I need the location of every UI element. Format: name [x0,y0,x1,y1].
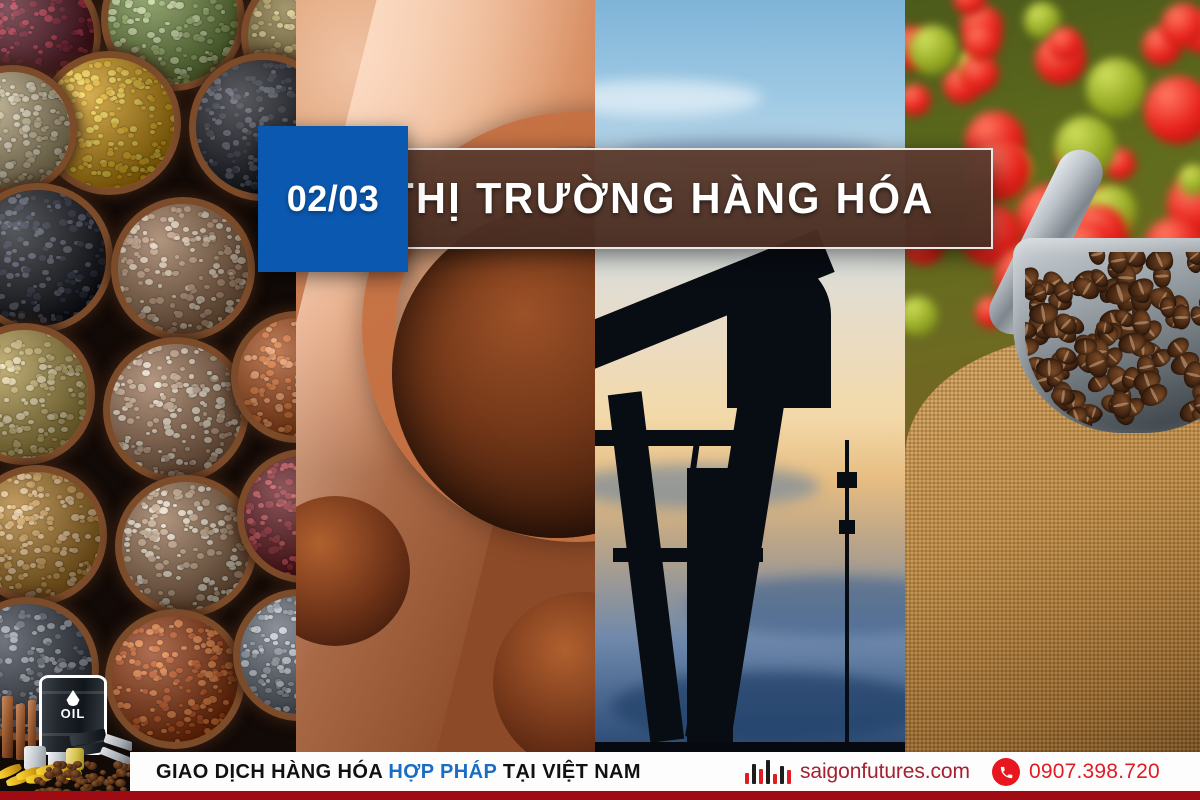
logo-bar-3 [759,769,763,784]
collage-bean [76,762,82,767]
legume-grains [0,330,88,458]
legume-bowl [122,482,250,610]
collage-bean [97,777,105,783]
coffee-cherry [1161,3,1200,48]
legume-grains [244,456,296,576]
brand-group[interactable]: saigonfutures.com [745,760,970,784]
date-label: 02/03 [287,178,380,220]
legume-grains [0,190,106,326]
footer-accent-strip [0,791,1200,800]
legume-bowl [244,456,296,576]
legume-grains [110,344,242,476]
pumpjack-head-top [781,252,807,308]
logo-bar-4 [766,760,770,784]
pumpjack-rod-clamp-2 [839,520,855,534]
collage-bean [108,779,115,784]
legume-bowl [110,344,242,476]
legume-bowl [0,72,70,188]
panel-coffee [905,0,1200,800]
phone-icon [992,758,1020,786]
logo-bar-6 [780,766,784,784]
panel-oil-pumpjack [595,0,905,800]
coffee-cherry [908,25,958,75]
legume-bowl [0,190,106,326]
tagline-highlight: HỢP PHÁP [388,761,496,783]
pumpjack-rod-clamp-1 [837,472,857,488]
collage-bean [74,783,80,788]
copper-bar-1 [2,696,13,758]
coffee-bean [1087,252,1108,267]
panel-copper-tubes [296,0,595,800]
collage-bean [55,781,62,787]
oil-drop-icon [67,690,80,706]
commodity-collage: OIL [0,660,132,792]
legume-bowl [238,318,296,436]
collage-bean [84,761,91,767]
pumpjack-crossbeam-1 [595,430,771,446]
legume-bowl [0,330,88,458]
coffee-cherry [963,23,1001,61]
tagline-suffix: TẠI VIỆT NAM [497,761,641,783]
oil-barrel-label: OIL [42,706,104,721]
collage-bean [67,764,73,769]
collage-bean [115,779,126,787]
date-badge: 02/03 [258,126,408,272]
collage-bean [39,780,46,786]
tagline-prefix: GIAO DỊCH HÀNG HÓA [156,761,388,783]
footer-tagline: GIAO DỊCH HÀNG HÓA HỢP PHÁP TẠI VIỆT NAM [156,761,641,784]
coffee-cherry [1048,27,1082,61]
phone-number[interactable]: 0907.398.720 [1029,760,1160,784]
pumpjack-polished-rod [845,440,849,770]
collage-bean [83,784,90,789]
pumpjack-ladder-rail-r [721,468,729,732]
logo-bar-7 [787,770,791,784]
legume-grains [122,482,250,610]
phone-group[interactable]: 0907.398.720 [992,758,1160,786]
collage-bean [100,770,106,775]
legume-bowl [240,596,296,714]
footer-bar: GIAO DỊCH HÀNG HÓA HỢP PHÁP TẠI VIỆT NAM… [130,752,1200,792]
legume-bowl [118,204,248,334]
collage-bean [52,767,62,775]
brand-name[interactable]: saigonfutures.com [800,760,970,784]
coffee-cherry [1086,58,1146,118]
pumpjack-ladder-rail-l [691,468,699,732]
legume-bowl [0,472,100,598]
legume-grains [0,472,100,598]
legume-grains [238,318,296,436]
legume-grains [0,72,70,188]
title-banner: THỊ TRƯỜNG HÀNG HÓA [330,148,993,249]
bar-chart-logo-icon [745,760,791,784]
collage-bean [70,770,81,778]
legume-grains [240,596,296,714]
logo-bar-1 [745,773,749,784]
poster-stage: OIL THỊ TRƯỜNG HÀNG HÓA 02/03 GIAO DỊCH … [0,0,1200,800]
logo-bar-2 [752,764,756,784]
legume-grains [118,204,248,334]
page-title: THỊ TRƯỜNG HÀNG HÓA [388,174,934,224]
collage-bean [113,761,123,769]
logo-bar-5 [773,774,777,784]
